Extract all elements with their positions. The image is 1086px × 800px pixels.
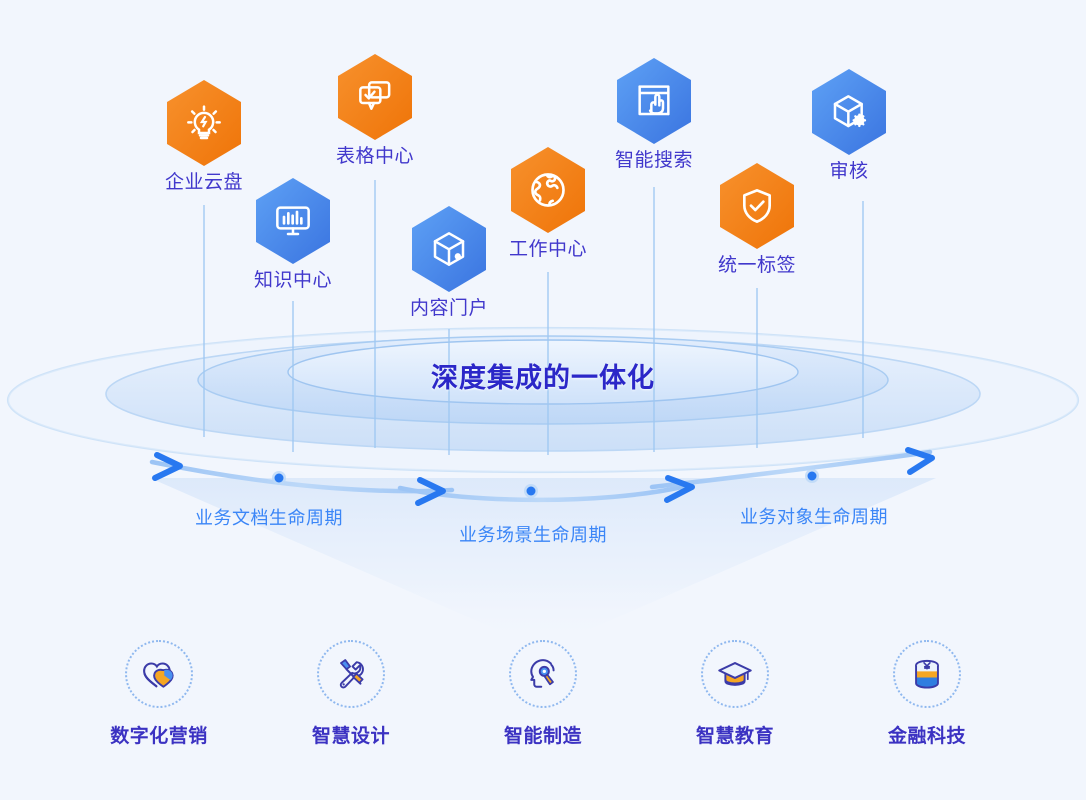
capability-label-form-center: 表格中心	[336, 147, 414, 168]
capability-node-form-center[interactable]: 表格中心	[336, 53, 414, 168]
industry-label-smart-manufacturing: 智能制造	[504, 721, 582, 748]
hex-unified-tags[interactable]	[718, 162, 796, 250]
industry-label-digital-marketing: 数字化营销	[110, 721, 208, 748]
capability-label-enterprise-cloud-disk: 企业云盘	[165, 173, 243, 194]
industry-item-fintech[interactable]: 金融科技	[867, 640, 987, 748]
lifecycle-label-document: 业务文档生命周期	[195, 504, 343, 530]
head-wrench-icon	[522, 653, 564, 695]
capability-node-work-center[interactable]: 工作中心	[509, 146, 587, 261]
industry-icon-ring	[317, 640, 385, 708]
capability-label-work-center: 工作中心	[509, 240, 587, 261]
industry-item-smart-education[interactable]: 智慧教育	[675, 640, 795, 748]
database-yen-icon	[906, 653, 948, 695]
capability-node-review[interactable]: 审核	[810, 68, 888, 183]
brush-wrench-icon	[330, 653, 372, 695]
industry-icon-ring	[509, 640, 577, 708]
hex-work-center[interactable]	[509, 146, 587, 234]
industry-item-smart-manufacturing[interactable]: 智能制造	[483, 640, 603, 748]
browser-hand-icon	[634, 81, 674, 121]
chat-check-icon	[355, 77, 395, 117]
capability-label-content-portal: 内容门户	[410, 299, 488, 320]
capability-node-unified-tags[interactable]: 统一标签	[718, 162, 796, 277]
industry-item-smart-design[interactable]: 智慧设计	[291, 640, 411, 748]
capability-node-intelligent-search[interactable]: 智能搜索	[615, 57, 693, 172]
lightbulb-icon	[184, 103, 224, 143]
hex-enterprise-cloud-disk[interactable]	[165, 79, 243, 167]
capability-label-knowledge-center: 知识中心	[254, 271, 332, 292]
industry-icon-ring	[893, 640, 961, 708]
diagram-canvas: 深度集成的一体化 业务文档生命周期 业务场景生命周期 业务对象生命周期 企业云盘	[0, 0, 1086, 800]
hex-content-portal[interactable]	[410, 205, 488, 293]
shield-check-icon	[737, 186, 777, 226]
hex-review[interactable]	[810, 68, 888, 156]
hex-form-center[interactable]	[336, 53, 414, 141]
capability-node-enterprise-cloud-disk[interactable]: 企业云盘	[165, 79, 243, 194]
cube-gear-icon	[829, 92, 869, 132]
capability-node-content-portal[interactable]: 内容门户	[410, 205, 488, 320]
capability-node-knowledge-center[interactable]: 知识中心	[254, 177, 332, 292]
monitor-chart-icon	[273, 201, 313, 241]
lifecycle-label-object: 业务对象生命周期	[740, 503, 888, 529]
lifecycle-label-scenario: 业务场景生命周期	[459, 521, 607, 547]
industry-icon-ring	[125, 640, 193, 708]
capability-label-review: 审核	[829, 162, 868, 183]
industry-list: 数字化营销 智慧设计	[0, 640, 1086, 748]
cube-dot-icon	[429, 229, 469, 269]
capability-label-intelligent-search: 智能搜索	[615, 151, 693, 172]
hex-knowledge-center[interactable]	[254, 177, 332, 265]
industry-label-smart-design: 智慧设计	[312, 721, 390, 748]
industry-icon-ring	[701, 640, 769, 708]
capability-label-unified-tags: 统一标签	[718, 256, 796, 277]
globe-icon	[528, 170, 568, 210]
industry-item-digital-marketing[interactable]: 数字化营销	[99, 640, 219, 748]
industry-label-smart-education: 智慧教育	[696, 721, 774, 748]
center-title: 深度集成的一体化	[0, 356, 1086, 395]
heart-tag-icon	[138, 653, 180, 695]
industry-label-fintech: 金融科技	[888, 721, 966, 748]
graduation-cap-icon	[714, 653, 756, 695]
hex-intelligent-search[interactable]	[615, 57, 693, 145]
